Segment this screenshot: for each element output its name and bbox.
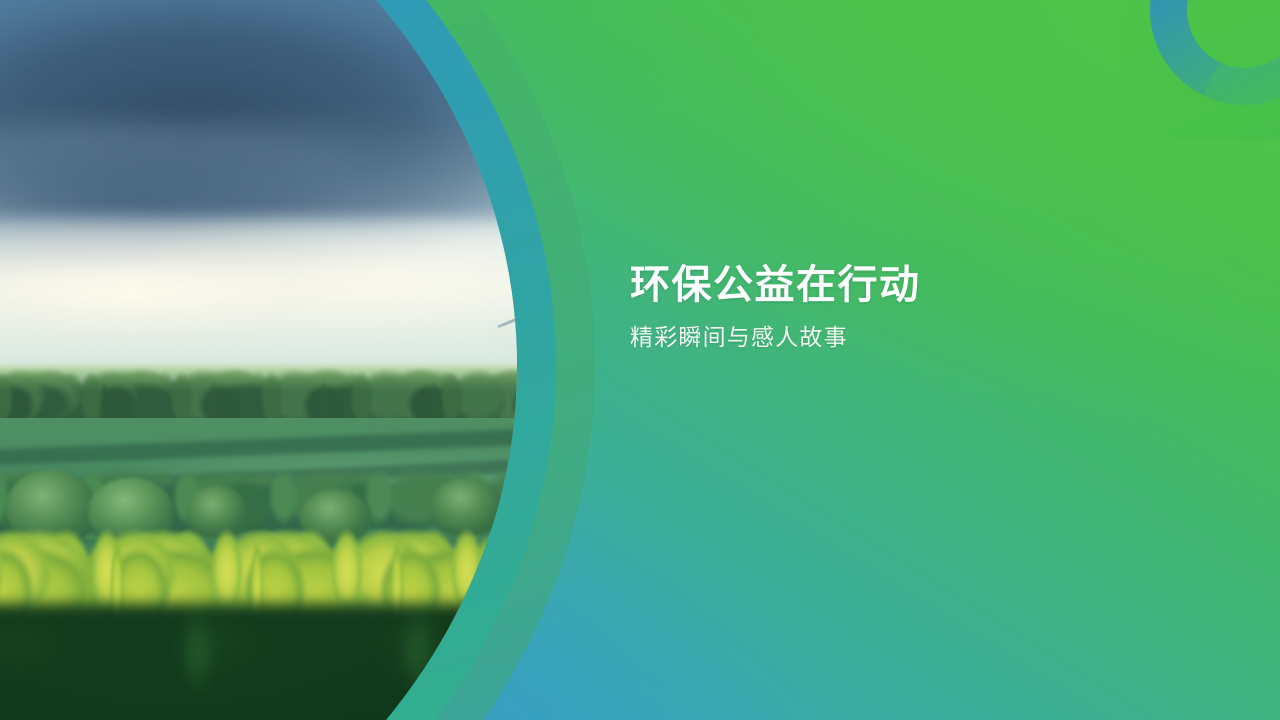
photo-vignette [0,0,517,720]
title-block: 环保公益在行动 精彩瞬间与感人故事 [630,262,1190,352]
hero-photo [0,0,517,720]
slide-subtitle: 精彩瞬间与感人故事 [630,324,1190,352]
presentation-slide: 环保公益在行动 精彩瞬间与感人故事 [0,0,1280,720]
slide-title: 环保公益在行动 [630,262,1190,308]
photo-clip-mask [0,0,517,720]
